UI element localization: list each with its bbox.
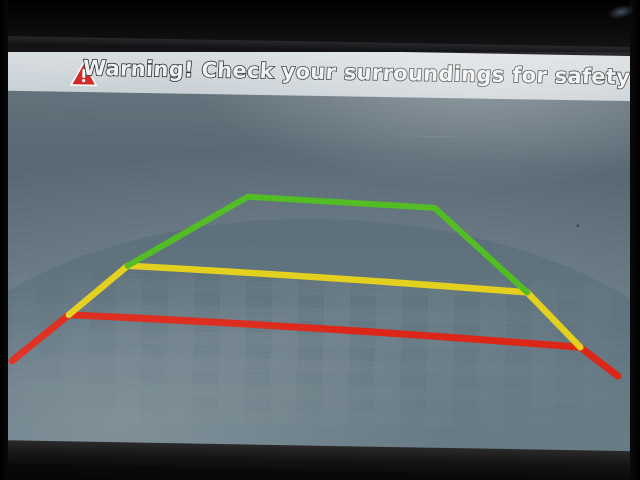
bezel-left: [0, 0, 8, 480]
camera-display-screenshot: Warning! Check your surroundings for saf…: [0, 0, 640, 480]
screen-dust-speck: [576, 224, 579, 227]
display-screen: Warning! Check your surroundings for saf…: [0, 32, 640, 455]
bezel-right: [630, 0, 640, 480]
photo-grain: [0, 32, 640, 455]
